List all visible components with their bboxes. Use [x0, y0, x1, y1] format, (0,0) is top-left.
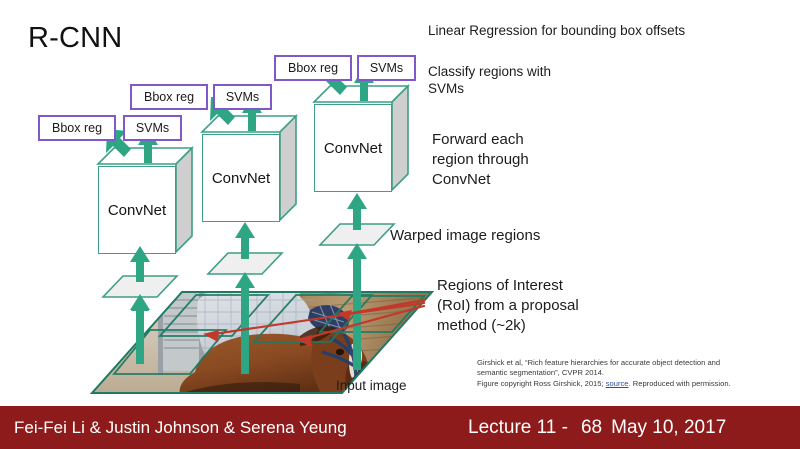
convnet-3-cube: ConvNet — [314, 84, 412, 192]
convnet-2-label: ConvNet — [202, 134, 280, 222]
footer-authors: Fei-Fei Li & Justin Johnson & Serena Yeu… — [14, 418, 347, 438]
footer-lecture-label: Lecture 11 - — [468, 417, 568, 438]
citation-block: Girshick et al, “Rich feature hierarchie… — [477, 358, 795, 389]
citation-line-3: Figure copyright Ross Girshick, 2015; so… — [477, 379, 795, 389]
convnet-1-label: ConvNet — [98, 166, 176, 254]
footer-date: May 10, 2017 — [611, 417, 726, 438]
bbox-reg-box-3[interactable]: Bbox reg — [274, 55, 352, 81]
citation-line-3-post: . Reproduced with permission. — [629, 379, 731, 388]
slide-canvas: R-CNN — [0, 0, 800, 449]
citation-line-2: semantic segmentation”, CVPR 2014. — [477, 368, 795, 378]
bbox-reg-box-1[interactable]: Bbox reg — [38, 115, 116, 141]
citation-line-3-pre: Figure copyright Ross Girshick, 2015; — [477, 379, 606, 388]
citation-line-1: Girshick et al, “Rich feature hierarchie… — [477, 358, 795, 368]
citation-source-link[interactable]: source — [606, 379, 629, 388]
footer-lecture-info: Lecture 11 -68May 10, 2017 — [468, 417, 726, 439]
input-image-label: Input image — [336, 378, 407, 393]
convnet-2-cube: ConvNet — [202, 114, 300, 222]
convnet-1-cube: ConvNet — [98, 146, 196, 254]
convnet-3-label: ConvNet — [314, 104, 392, 192]
svms-box-1[interactable]: SVMs — [123, 115, 182, 141]
footer-slide-number: 68 — [581, 417, 602, 438]
bbox-reg-box-2[interactable]: Bbox reg — [130, 84, 208, 110]
svms-box-3[interactable]: SVMs — [357, 55, 416, 81]
footer-bar: Fei-Fei Li & Justin Johnson & Serena Yeu… — [0, 406, 800, 449]
svms-box-2[interactable]: SVMs — [213, 84, 272, 110]
